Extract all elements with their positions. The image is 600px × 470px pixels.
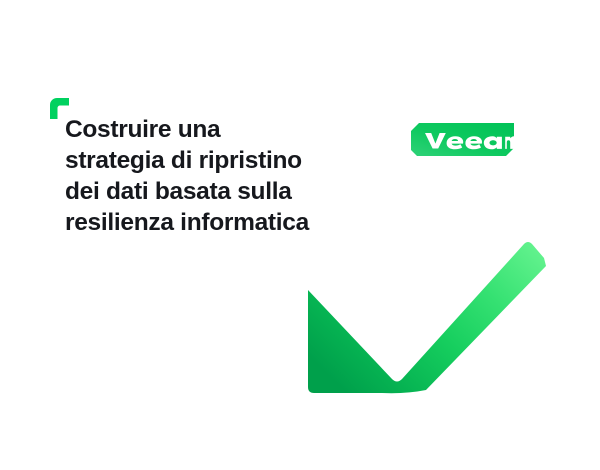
slide-canvas: Costruire una strategia di ripristino de… bbox=[0, 0, 600, 470]
page-title: Costruire una strategia di ripristino de… bbox=[65, 114, 365, 238]
checkmark-graphic bbox=[296, 236, 546, 401]
veeam-logo bbox=[411, 121, 514, 158]
